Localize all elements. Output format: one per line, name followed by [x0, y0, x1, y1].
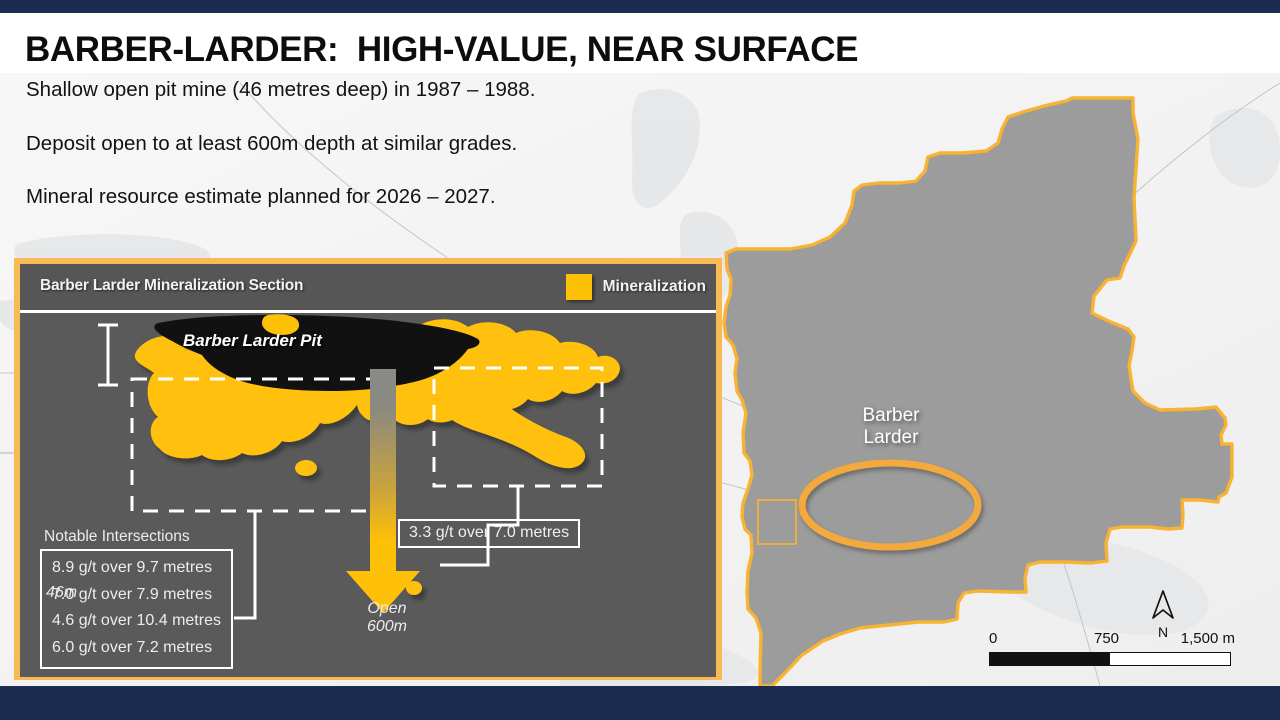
notable-intersections-title: Notable Intersections [40, 528, 233, 546]
scale-bar-segment [990, 653, 1110, 665]
bullet-item: Mineral resource estimate planned for 20… [26, 187, 716, 208]
callout-grade-intersection: 3.3 g/t over 7.0 metres [398, 519, 580, 548]
open-depth-label-line1: Open [354, 600, 420, 618]
top-accent-bar [0, 0, 1280, 13]
scale-min-label: 0 [989, 630, 997, 647]
bottom-accent-bar [0, 686, 1280, 720]
scale-mid-label: 750 [1094, 630, 1119, 647]
panel-title: Barber Larder Mineralization Section [40, 277, 303, 295]
notable-intersection-item: 4.6 g/t over 10.4 metres [52, 608, 221, 635]
map-deposit-label: Barber Larder [844, 405, 938, 449]
scale-bar-graphic [989, 652, 1231, 666]
open-depth-label: Open 600m [354, 600, 420, 636]
bullet-list: Shallow open pit mine (46 metres deep) i… [26, 80, 716, 241]
bullet-item: Deposit open to at least 600m depth at s… [26, 134, 716, 155]
bullet-item: Shallow open pit mine (46 metres deep) i… [26, 80, 716, 101]
legend: Mineralization [566, 274, 706, 300]
map-deposit-label-line2: Larder [844, 427, 938, 449]
open-depth-label-line2: 600m [354, 618, 420, 636]
legend-swatch-mineralization [566, 274, 592, 300]
map-deposit-label-line1: Barber [844, 405, 938, 427]
north-arrow-icon [1146, 588, 1180, 622]
notable-intersections: Notable Intersections 8.9 g/t over 9.7 m… [40, 528, 233, 669]
scale-bar-segment [1110, 653, 1230, 665]
title-band: BARBER-LARDER: HIGH-VALUE, NEAR SURFACE [0, 13, 1280, 73]
scale-max-label: 1,500 m [1181, 630, 1235, 647]
mineralization-section-panel: Barber Larder Mineralization Section Min… [14, 258, 722, 680]
notable-intersection-item: 8.9 g/t over 9.7 metres [52, 555, 221, 582]
page-title: BARBER-LARDER: HIGH-VALUE, NEAR SURFACE [25, 30, 858, 70]
notable-intersections-box: 8.9 g/t over 9.7 metres 7.0 g/t over 7.9… [40, 549, 233, 669]
pit-label: Barber Larder Pit [183, 331, 322, 351]
panel-header: Barber Larder Mineralization Section Min… [20, 264, 716, 313]
scale-bar: 0 750 1,500 m [989, 630, 1231, 666]
notable-intersection-item: 6.0 g/t over 7.2 metres [52, 635, 221, 662]
legend-label-mineralization: Mineralization [603, 278, 706, 296]
notable-intersection-item: 7.0 g/t over 7.9 metres [52, 582, 221, 609]
slide-root: Shallow open pit mine (46 metres deep) i… [0, 0, 1280, 720]
